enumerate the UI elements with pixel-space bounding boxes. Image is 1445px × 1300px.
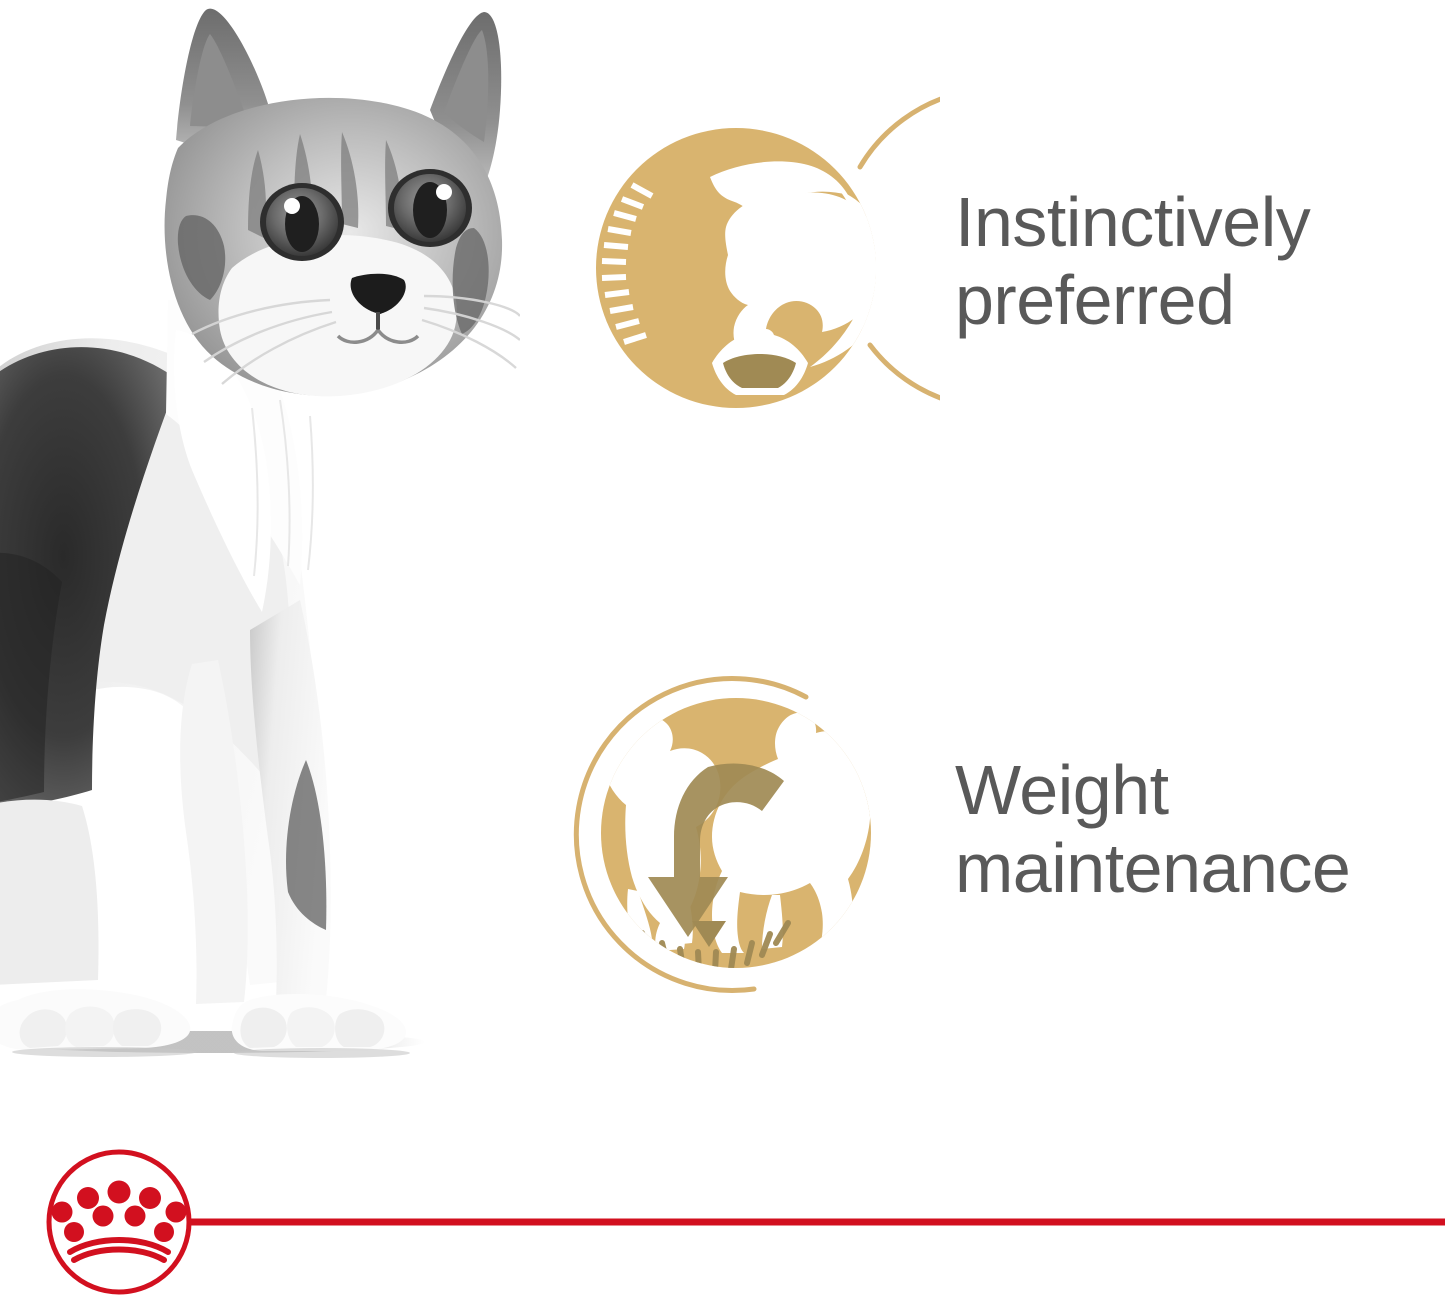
brand-circle	[49, 1152, 189, 1292]
kitten-photo	[0, 0, 520, 1075]
feature-row-instinctively-preferred: Instinctively preferred	[540, 95, 1445, 455]
cat-weight-scale-icon	[540, 655, 940, 1020]
feature-row-weight-maintenance: Weight maintenance	[540, 655, 1445, 1015]
page-canvas: Instinctively preferred	[0, 0, 1445, 1300]
feature-label-weight-maintenance: Weight maintenance	[955, 751, 1445, 908]
brand-footer	[0, 1140, 1445, 1300]
feature-label-instinctively-preferred: Instinctively preferred	[955, 183, 1445, 340]
cat-with-food-bowl-icon	[540, 95, 940, 460]
